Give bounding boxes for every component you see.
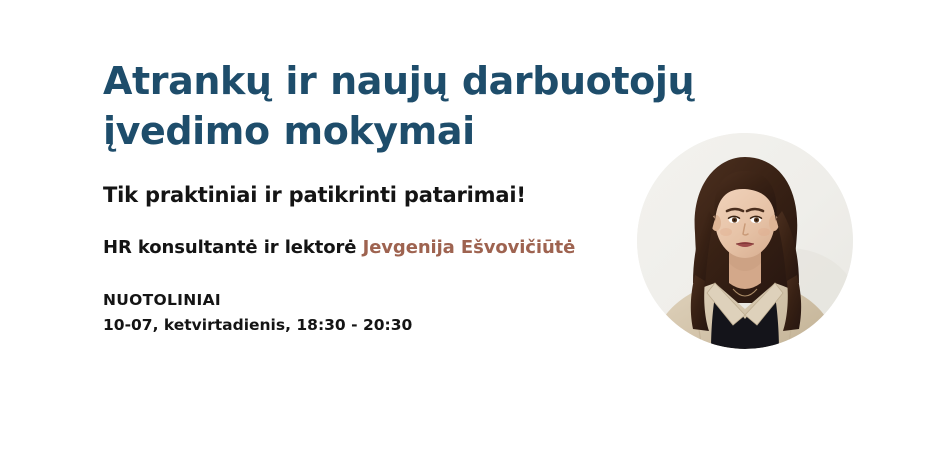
presenter-avatar <box>637 133 853 349</box>
page-title: Atrankų ir naujų darbuotojų įvedimo moky… <box>103 56 793 156</box>
presenter-role: HR konsultantė ir lektorė <box>103 237 363 258</box>
event-promo-banner: Atrankų ir naujų darbuotojų įvedimo moky… <box>0 0 940 470</box>
presenter-name: Jevgenija Ešvovičiūtė <box>363 237 576 258</box>
portrait-illustration <box>637 133 853 349</box>
